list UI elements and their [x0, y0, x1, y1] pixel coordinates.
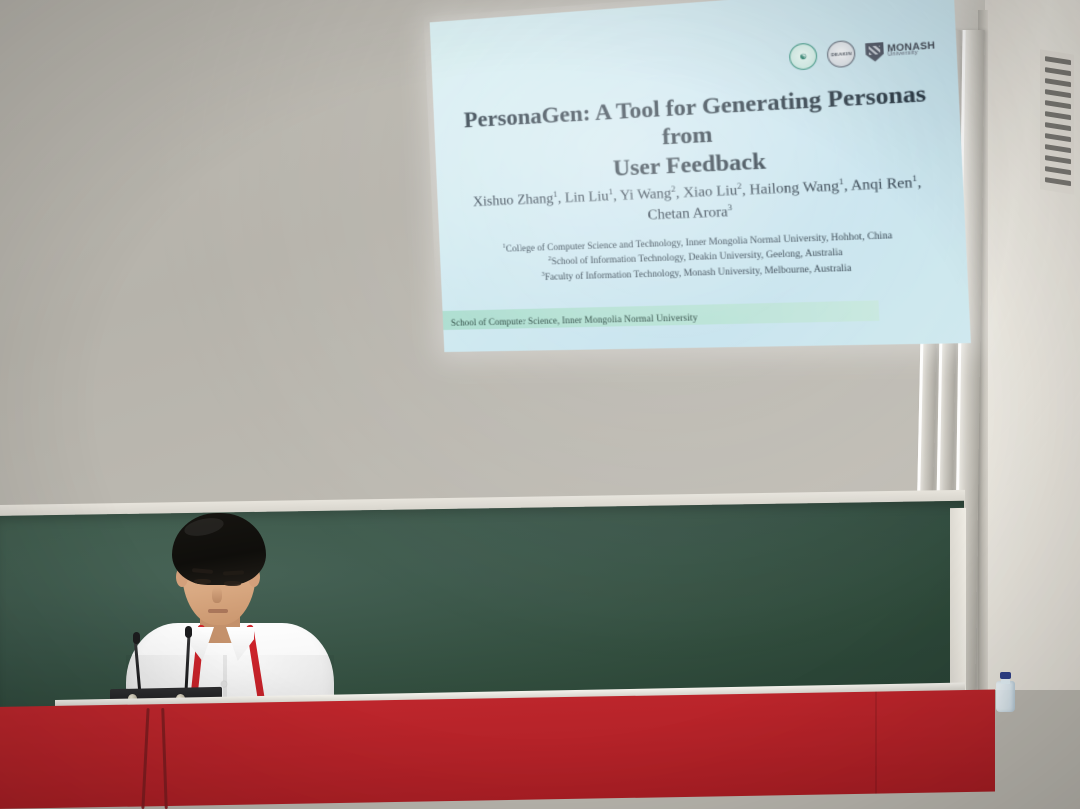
author-1-sup: 1: [608, 186, 613, 196]
author-4: Hailong Wang: [749, 179, 839, 199]
author-6-sup: 3: [727, 201, 732, 212]
lecture-desk-front-panel: [0, 690, 995, 809]
projection-screen: ☯ DEAKIN MONASH University PersonaGen: A…: [430, 0, 971, 352]
monash-logo: MONASH University: [865, 38, 936, 62]
author-4-sup: 1: [838, 176, 843, 187]
monash-logo-sub: University: [887, 50, 935, 59]
author-5-sup: 1: [912, 172, 917, 183]
microphone-head-icon: [185, 626, 192, 638]
presenter-mouth: [208, 609, 228, 613]
author-0-sup: 1: [553, 189, 558, 199]
presenter-hair: [172, 513, 266, 585]
presenter-eye-left: [194, 579, 211, 584]
author-0: Xishuo Zhang: [473, 191, 554, 210]
presentation-photo-scene: ☯ DEAKIN MONASH University PersonaGen: A…: [0, 0, 1080, 809]
water-bottle-cap: [1000, 672, 1011, 679]
author-1: Lin Liu: [565, 189, 610, 206]
presenter-nose: [212, 587, 222, 603]
author-3-sup: 2: [737, 180, 742, 191]
author-5: Anqi Ren: [850, 176, 912, 195]
monash-shield-icon: [865, 42, 884, 63]
imnu-seal-icon: ☯: [789, 42, 818, 70]
vent-grille-icon: [1040, 49, 1074, 194]
water-bottle-body: [996, 681, 1015, 712]
author-2-sup: 2: [671, 183, 676, 194]
microphone-head-icon: [133, 632, 140, 644]
author-3: Xiao Liu: [683, 183, 738, 201]
deakin-seal-icon: DEAKIN: [827, 40, 856, 69]
water-bottle: [996, 672, 1015, 712]
author-6: Chetan Arora: [647, 204, 728, 223]
shirt-button: [221, 681, 227, 687]
presenter-eye-right: [224, 581, 241, 586]
author-2: Yi Wang: [619, 186, 671, 204]
